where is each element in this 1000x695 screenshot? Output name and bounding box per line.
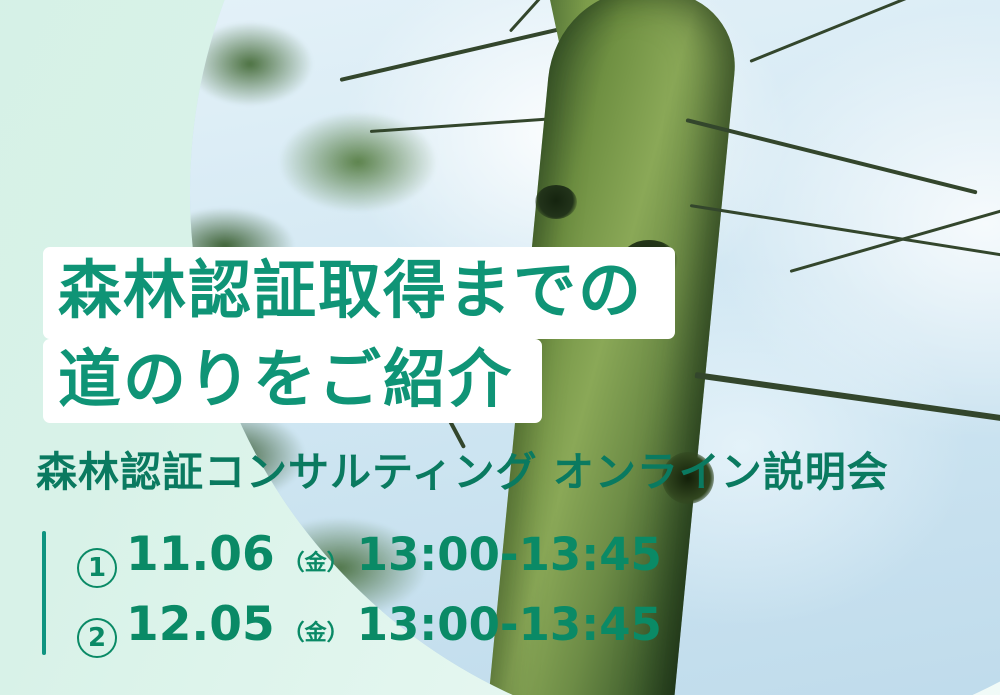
session-time: 13:00-13:45 xyxy=(357,528,662,581)
session-weekday: （金） xyxy=(283,545,349,577)
session-row-1: 1 11.06 （金） 13:00-13:45 xyxy=(77,527,662,582)
session-number-badge: 2 xyxy=(77,618,117,658)
date-list-accent-rule xyxy=(42,531,46,655)
page-title-line-2: 道のりをご紹介 xyxy=(58,348,513,411)
foliage-bottom-right xyxy=(915,465,1000,695)
session-row-2: 2 12.05 （金） 13:00-13:45 xyxy=(77,597,662,652)
poster-root: 森林認証取得までの 道のりをご紹介 森林認証コンサルティング オンライン説明会 … xyxy=(0,0,1000,695)
trunk-knot xyxy=(535,185,577,219)
foliage-right xyxy=(905,0,1000,530)
session-date: 11.06 xyxy=(126,527,275,582)
session-date: 12.05 xyxy=(126,597,275,652)
session-time: 13:00-13:45 xyxy=(357,598,662,651)
session-number-badge: 1 xyxy=(77,548,117,588)
page-title-line-1: 森林認証取得までの xyxy=(58,259,643,322)
session-weekday: （金） xyxy=(283,615,349,647)
page-subtitle: 森林認証コンサルティング オンライン説明会 xyxy=(36,438,889,498)
